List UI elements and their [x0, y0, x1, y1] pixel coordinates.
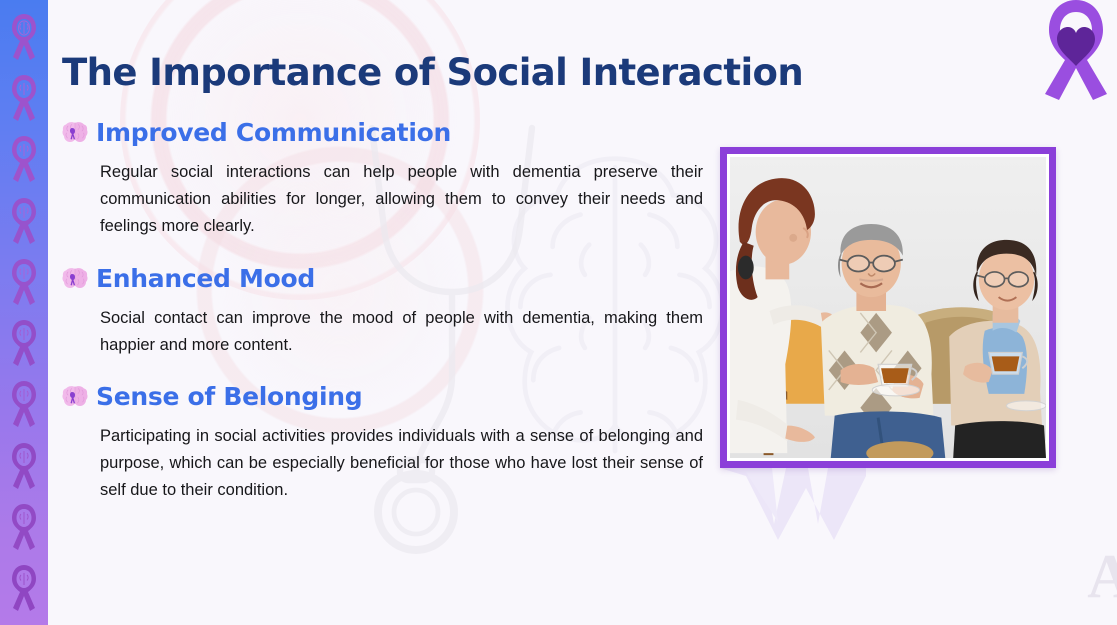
social-interaction-photo — [730, 157, 1046, 458]
awareness-ribbon-brain-icon — [9, 257, 39, 307]
awareness-ribbon-brain-icon — [9, 196, 39, 246]
brain-icon — [62, 267, 88, 290]
photo-frame — [720, 147, 1056, 468]
awareness-ribbon-heart-icon — [1039, 0, 1113, 102]
section-enhanced-mood: Enhanced Mood Social contact can improve… — [62, 264, 727, 359]
slide-content: The Importance of Social Interaction Imp… — [48, 0, 1117, 625]
section-heading: Sense of Belonging — [96, 382, 362, 411]
awareness-ribbon-brain-icon — [9, 379, 39, 429]
section-body: Regular social interactions can help peo… — [100, 159, 703, 240]
section-body: Social contact can improve the mood of p… — [100, 305, 703, 359]
section-list: Improved Communication Regular social in… — [62, 118, 727, 508]
section-header: Sense of Belonging — [62, 382, 727, 411]
awareness-ribbon-brain-icon — [9, 134, 39, 184]
decorative-sidebar — [0, 0, 48, 625]
section-header: Enhanced Mood — [62, 264, 727, 293]
awareness-ribbon-brain-icon — [9, 73, 39, 123]
section-improved-communication: Improved Communication Regular social in… — [62, 118, 727, 240]
page-title: The Importance of Social Interaction — [62, 54, 803, 93]
section-sense-of-belonging: Sense of Belonging Participating in soci… — [62, 382, 727, 504]
awareness-ribbon-brain-icon — [9, 502, 39, 552]
photo-inner-mat — [727, 154, 1049, 461]
awareness-ribbon-brain-icon — [9, 441, 39, 491]
brain-icon — [62, 385, 88, 408]
brain-icon — [62, 121, 88, 144]
section-header: Improved Communication — [62, 118, 727, 147]
awareness-ribbon-brain-icon — [9, 318, 39, 368]
section-body: Participating in social activities provi… — [100, 423, 703, 504]
awareness-ribbon-brain-icon — [9, 12, 39, 62]
section-heading: Improved Communication — [96, 118, 451, 147]
awareness-ribbon-brain-icon — [9, 563, 39, 613]
section-heading: Enhanced Mood — [96, 264, 315, 293]
